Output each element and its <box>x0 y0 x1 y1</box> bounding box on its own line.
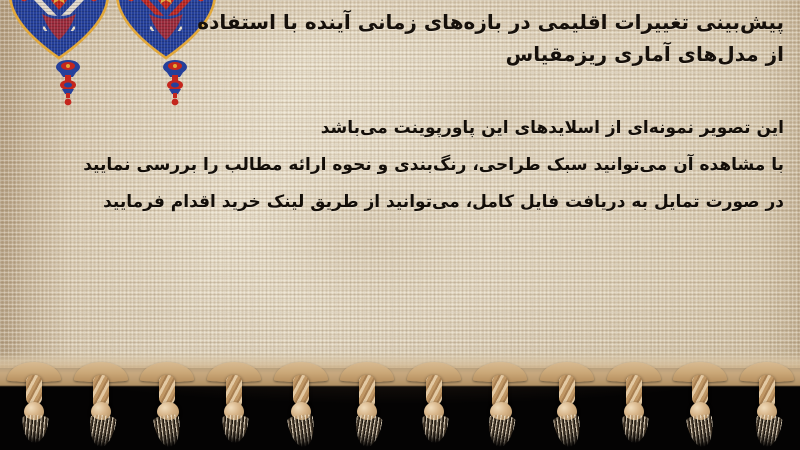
slide-body-line-2: با مشاهده آن می‌توانید سبک طراحی، رنگ‌بن… <box>12 147 784 184</box>
slide-body-line-1: این تصویر نمونه‌ای از اسلایدهای این پاور… <box>12 110 784 147</box>
slide-body-line-3: در صورت تمایل به دریافت فایل کامل، می‌تو… <box>12 184 784 221</box>
slide-title: پیش‌بینی تغییرات اقلیمی در بازه‌های زمان… <box>124 6 784 70</box>
slide-body: این تصویر نمونه‌ای از اسلایدهای این پاور… <box>12 110 784 221</box>
slide-canvas: پیش‌بینی تغییرات اقلیمی در بازه‌های زمان… <box>0 0 800 450</box>
slide-title-line-2: از مدل‌های آماری ریزمقیاس <box>124 38 784 70</box>
carpet-hem-edge <box>0 352 800 386</box>
slide-title-line-1: پیش‌بینی تغییرات اقلیمی در بازه‌های زمان… <box>124 6 784 38</box>
